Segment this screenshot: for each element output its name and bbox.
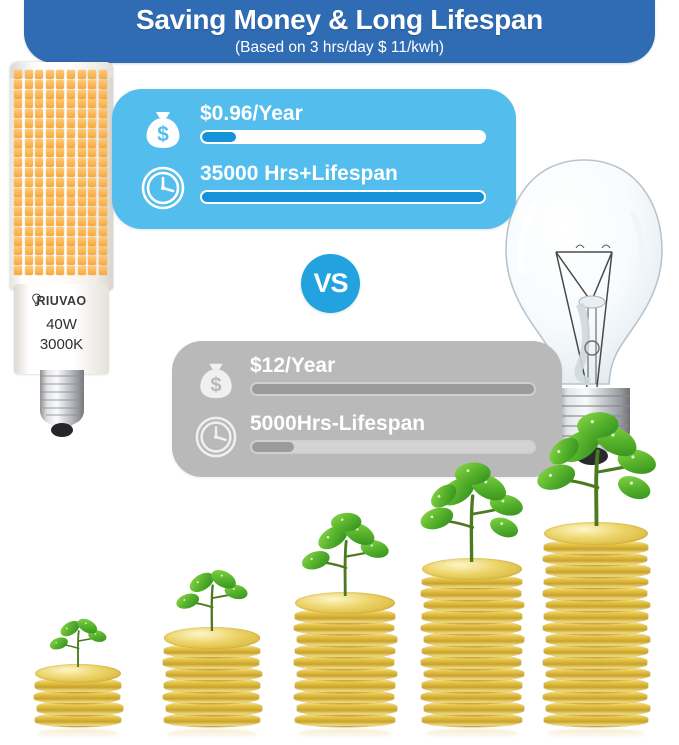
plant-sprout [525, 407, 668, 527]
led-chip [99, 256, 107, 265]
led-chip [56, 227, 64, 236]
led-chip [78, 237, 86, 246]
led-chip [14, 129, 22, 138]
led-chip [88, 178, 96, 187]
led-chip [46, 99, 54, 108]
led-chip [99, 99, 107, 108]
led-chip [88, 227, 96, 236]
incandescent-lifespan-bar-fill [252, 442, 294, 452]
led-chip [88, 129, 96, 138]
led-chip [46, 188, 54, 197]
led-chip [46, 109, 54, 118]
led-chip [78, 80, 86, 89]
led-chip [35, 129, 43, 138]
led-chip [67, 168, 75, 177]
led-chip [35, 109, 43, 118]
led-chip [14, 266, 22, 275]
led-chip [99, 237, 107, 246]
led-chip [46, 139, 54, 148]
led-chip [88, 90, 96, 99]
led-chip [67, 246, 75, 255]
led-chip [25, 99, 33, 108]
led-chip [78, 178, 86, 187]
led-chip [88, 246, 96, 255]
plant-sprout [410, 458, 533, 561]
led-chip [56, 70, 64, 79]
header-banner: Saving Money & Long Lifespan (Based on 3… [24, 0, 655, 63]
led-chip [99, 227, 107, 236]
clock-icon [140, 165, 186, 211]
led-chip [88, 168, 96, 177]
led-chip [14, 197, 22, 206]
led-chip [99, 148, 107, 157]
led-chip [99, 168, 107, 177]
led-chip [56, 266, 64, 275]
led-chip [14, 207, 22, 216]
led-chip [67, 148, 75, 157]
coin-stack [295, 598, 395, 727]
led-chip [78, 266, 86, 275]
vs-label: VS [313, 270, 347, 297]
led-chip [14, 178, 22, 187]
led-chip [35, 227, 43, 236]
led-bulb-housing: RIUVAO 40W 3000K [14, 284, 109, 374]
led-cost-bar [200, 130, 486, 144]
led-chip [25, 256, 33, 265]
led-chip [46, 217, 54, 226]
led-lifespan-label: 35000 Hrs+Lifespan [200, 163, 486, 184]
incandescent-lifespan-bar [250, 440, 536, 454]
plant-sprout [293, 509, 398, 596]
led-chip [14, 70, 22, 79]
led-chip [78, 148, 86, 157]
led-chip [56, 90, 64, 99]
plant-sprout [44, 610, 112, 667]
led-chip [88, 266, 96, 275]
led-chip [35, 207, 43, 216]
led-chip [46, 158, 54, 167]
led-chip [67, 109, 75, 118]
led-cost-label: $0.96/Year [200, 103, 486, 124]
led-chip [35, 178, 43, 187]
led-chip [99, 129, 107, 138]
led-chip [56, 148, 64, 157]
led-chip [88, 197, 96, 206]
led-chip [67, 158, 75, 167]
led-comparison-card: $ $0.96/Year 35000 Hrs+Lifespan [112, 89, 516, 229]
coin-stack [422, 564, 522, 728]
led-chip [99, 90, 107, 99]
incandescent-cost-bar-fill [252, 384, 534, 394]
coin-stack-reflection [299, 729, 391, 739]
led-lifespan-bar [200, 190, 486, 204]
plant-leaf [175, 591, 202, 612]
led-chip [99, 80, 107, 89]
led-chip [56, 237, 64, 246]
led-chip [25, 207, 33, 216]
coin-stack-reflection [548, 729, 644, 739]
coin-stack [544, 529, 648, 727]
led-chip [78, 246, 86, 255]
coin-stack-reflection [38, 729, 117, 739]
led-chip [56, 217, 64, 226]
led-chip [78, 207, 86, 216]
led-chip [88, 158, 96, 167]
led-chip [35, 139, 43, 148]
led-chip [88, 188, 96, 197]
plant-leaf [488, 514, 522, 542]
led-chip [46, 80, 54, 89]
led-chip [14, 148, 22, 157]
infographic-root: Saving Money & Long Lifespan (Based on 3… [0, 0, 679, 745]
led-chip [88, 119, 96, 128]
incandescent-cost-row: $12/Year [250, 355, 536, 396]
led-chip [88, 148, 96, 157]
led-chip [88, 70, 96, 79]
led-chip [25, 90, 33, 99]
led-chip [25, 178, 33, 187]
led-chip [88, 99, 96, 108]
led-chip [56, 129, 64, 138]
led-color-temp-label: 3000K [14, 336, 109, 353]
led-chip [99, 178, 107, 187]
led-chip [35, 197, 43, 206]
led-chip [46, 178, 54, 187]
led-chip [14, 158, 22, 167]
led-chip [88, 80, 96, 89]
money-bag-icon: $ [194, 357, 240, 403]
led-chip [46, 90, 54, 99]
led-chip [78, 70, 86, 79]
led-chip [67, 217, 75, 226]
page-title: Saving Money & Long Lifespan [136, 6, 543, 34]
led-chip [88, 237, 96, 246]
led-chip [25, 188, 33, 197]
led-chip [25, 266, 33, 275]
led-chip [99, 139, 107, 148]
led-chip [14, 256, 22, 265]
led-chip [78, 158, 86, 167]
led-chip [25, 80, 33, 89]
led-lifespan-bar-fill [202, 192, 484, 202]
led-bulb-body [10, 62, 113, 290]
led-chip [67, 99, 75, 108]
plant-leaf [48, 636, 69, 652]
led-chip [78, 90, 86, 99]
led-chip [88, 207, 96, 216]
led-chip [35, 256, 43, 265]
led-chip [67, 188, 75, 197]
led-chip [78, 139, 86, 148]
led-chip [67, 207, 75, 216]
led-chip [35, 80, 43, 89]
led-chip [56, 80, 64, 89]
led-chip [14, 139, 22, 148]
led-chip [46, 70, 54, 79]
led-chip [14, 237, 22, 246]
led-chip [67, 197, 75, 206]
led-chip [35, 70, 43, 79]
incandescent-cost-bar [250, 382, 536, 396]
led-chip [99, 207, 107, 216]
led-chip [78, 168, 86, 177]
led-chip [67, 237, 75, 246]
led-chip [35, 148, 43, 157]
led-chip [14, 99, 22, 108]
coin-stack [164, 633, 260, 728]
led-chip [14, 119, 22, 128]
led-chip [46, 266, 54, 275]
vs-badge: VS [301, 254, 360, 313]
led-bulb-image: RIUVAO 40W 3000K [4, 62, 122, 402]
led-chip [35, 266, 43, 275]
led-chip [88, 139, 96, 148]
led-cost-bar-fill [202, 132, 236, 142]
led-chip [14, 217, 22, 226]
led-chip [67, 178, 75, 187]
led-chip [14, 246, 22, 255]
led-chip [67, 119, 75, 128]
plant-leaf [614, 471, 653, 503]
led-chip [25, 246, 33, 255]
led-chip [78, 129, 86, 138]
incandescent-cost-label: $12/Year [250, 355, 536, 376]
led-chip-grid [14, 70, 109, 276]
led-chip [88, 217, 96, 226]
led-chip [46, 227, 54, 236]
led-chip [46, 129, 54, 138]
led-chip [25, 168, 33, 177]
coin-stacks-illustration [0, 488, 679, 745]
led-bulb-screw-base [32, 370, 92, 438]
led-chip [46, 246, 54, 255]
plant-leaf [534, 460, 578, 494]
led-chip [35, 217, 43, 226]
incandescent-lifespan-label: 5000Hrs-Lifespan [250, 413, 536, 434]
incandescent-comparison-card: $ $12/Year 5000Hrs-Lifespan [172, 341, 562, 477]
led-chip [88, 256, 96, 265]
led-chip [67, 80, 75, 89]
led-chip [99, 197, 107, 206]
led-chip [25, 148, 33, 157]
plant-sprout [169, 559, 255, 631]
led-chip [67, 256, 75, 265]
led-chip [56, 119, 64, 128]
led-chip [25, 217, 33, 226]
led-chip [78, 99, 86, 108]
led-chip [67, 90, 75, 99]
svg-text:$: $ [157, 123, 169, 146]
led-chip [25, 158, 33, 167]
led-chip [35, 90, 43, 99]
led-chip [67, 139, 75, 148]
led-chip [78, 109, 86, 118]
led-chip [25, 197, 33, 206]
led-chip [14, 90, 22, 99]
led-chip [88, 109, 96, 118]
led-chip [14, 109, 22, 118]
incandescent-lifespan-row: 5000Hrs-Lifespan [250, 413, 536, 454]
led-chip [46, 148, 54, 157]
led-chip [46, 237, 54, 246]
led-chip [56, 246, 64, 255]
led-chip [56, 197, 64, 206]
coin-stack [35, 667, 121, 727]
led-chip [67, 70, 75, 79]
led-chip [25, 227, 33, 236]
led-chip [35, 168, 43, 177]
led-chip [56, 178, 64, 187]
led-chip [35, 99, 43, 108]
led-chip [35, 237, 43, 246]
led-chip [78, 217, 86, 226]
led-chip [14, 80, 22, 89]
led-chip [99, 119, 107, 128]
led-chip [78, 256, 86, 265]
led-brand-label: RIUVAO [14, 294, 109, 308]
led-chip [56, 99, 64, 108]
led-chip [14, 188, 22, 197]
led-chip [25, 109, 33, 118]
page-subtitle: (Based on 3 hrs/day $ 11/kwh) [235, 40, 444, 56]
plant-leaf [299, 547, 331, 572]
led-chip [99, 188, 107, 197]
coin-stack-reflection [168, 729, 256, 739]
led-wattage-label: 40W [14, 316, 109, 333]
led-chip [56, 207, 64, 216]
led-chip [25, 70, 33, 79]
led-chip [14, 168, 22, 177]
led-cost-row: $0.96/Year [200, 103, 486, 144]
led-chip [14, 227, 22, 236]
led-chip [46, 168, 54, 177]
led-chip [99, 158, 107, 167]
led-chip [25, 129, 33, 138]
led-chip [99, 266, 107, 275]
svg-text:$: $ [210, 374, 221, 396]
led-chip [35, 119, 43, 128]
led-chip [99, 246, 107, 255]
led-chip [35, 188, 43, 197]
money-bag-icon: $ [140, 105, 186, 151]
led-chip [56, 256, 64, 265]
led-chip [25, 119, 33, 128]
led-chip [56, 109, 64, 118]
led-chip [78, 227, 86, 236]
led-chip [56, 158, 64, 167]
coin-stack-reflection [426, 729, 518, 739]
led-chip [35, 158, 43, 167]
led-chip [46, 197, 54, 206]
led-chip [25, 139, 33, 148]
led-chip [67, 129, 75, 138]
led-chip [56, 188, 64, 197]
led-chip [78, 119, 86, 128]
led-chip [46, 119, 54, 128]
led-chip [78, 197, 86, 206]
led-chip [46, 256, 54, 265]
led-chip [56, 168, 64, 177]
led-chip [67, 266, 75, 275]
led-chip [99, 70, 107, 79]
led-chip [46, 207, 54, 216]
led-chip [25, 237, 33, 246]
led-chip [67, 227, 75, 236]
led-chip [78, 188, 86, 197]
led-chip [56, 139, 64, 148]
led-chip [99, 217, 107, 226]
led-lifespan-row: 35000 Hrs+Lifespan [200, 163, 486, 204]
led-chip [35, 246, 43, 255]
clock-icon [194, 415, 240, 461]
plant-leaf [418, 504, 456, 534]
led-chip [99, 109, 107, 118]
